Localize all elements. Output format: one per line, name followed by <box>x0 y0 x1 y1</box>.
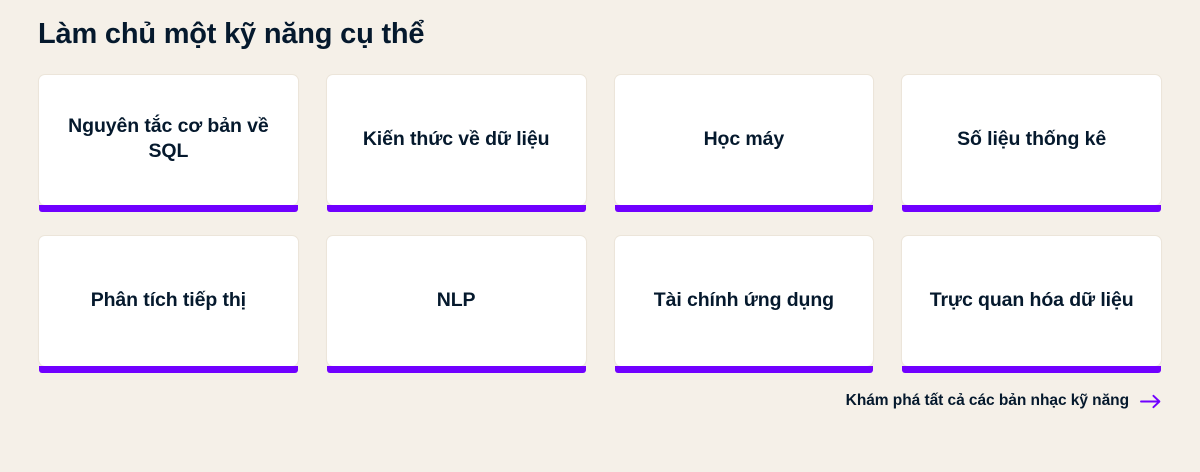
skill-card-data-visualization[interactable]: Trực quan hóa dữ liệu <box>901 235 1162 366</box>
skill-card-label: Phân tích tiếp thị <box>91 288 246 313</box>
skill-tracks-section: Làm chủ một kỹ năng cụ thể Nguyên tắc cơ… <box>0 0 1200 472</box>
arrow-right-icon <box>1140 394 1162 409</box>
skill-card-label: Nguyên tắc cơ bản về SQL <box>61 114 276 164</box>
page-title: Làm chủ một kỹ năng cụ thể <box>38 0 1162 54</box>
skill-card-label: Học máy <box>704 127 785 152</box>
skill-card-label: Tài chính ứng dụng <box>654 288 834 313</box>
skill-card-nlp[interactable]: NLP <box>326 235 587 366</box>
skill-card-machine-learning[interactable]: Học máy <box>614 74 875 205</box>
skill-card-data-literacy[interactable]: Kiến thức về dữ liệu <box>326 74 587 205</box>
skill-card-label: Trực quan hóa dữ liệu <box>930 288 1134 313</box>
skill-card-label: Số liệu thống kê <box>957 127 1106 152</box>
skill-card-marketing-analytics[interactable]: Phân tích tiếp thị <box>38 235 299 366</box>
skill-card-grid: Nguyên tắc cơ bản về SQL Kiến thức về dữ… <box>38 74 1162 366</box>
skill-card-label: NLP <box>437 288 476 313</box>
explore-all-skill-tracks-link[interactable]: Khám phá tất cả các bản nhạc kỹ năng <box>846 392 1162 410</box>
explore-all-skill-tracks-label: Khám phá tất cả các bản nhạc kỹ năng <box>846 392 1129 410</box>
footer-row: Khám phá tất cả các bản nhạc kỹ năng <box>38 392 1162 410</box>
skill-card-sql-fundamentals[interactable]: Nguyên tắc cơ bản về SQL <box>38 74 299 205</box>
skill-card-statistics[interactable]: Số liệu thống kê <box>901 74 1162 205</box>
skill-card-label: Kiến thức về dữ liệu <box>363 127 550 152</box>
skill-card-applied-finance[interactable]: Tài chính ứng dụng <box>614 235 875 366</box>
